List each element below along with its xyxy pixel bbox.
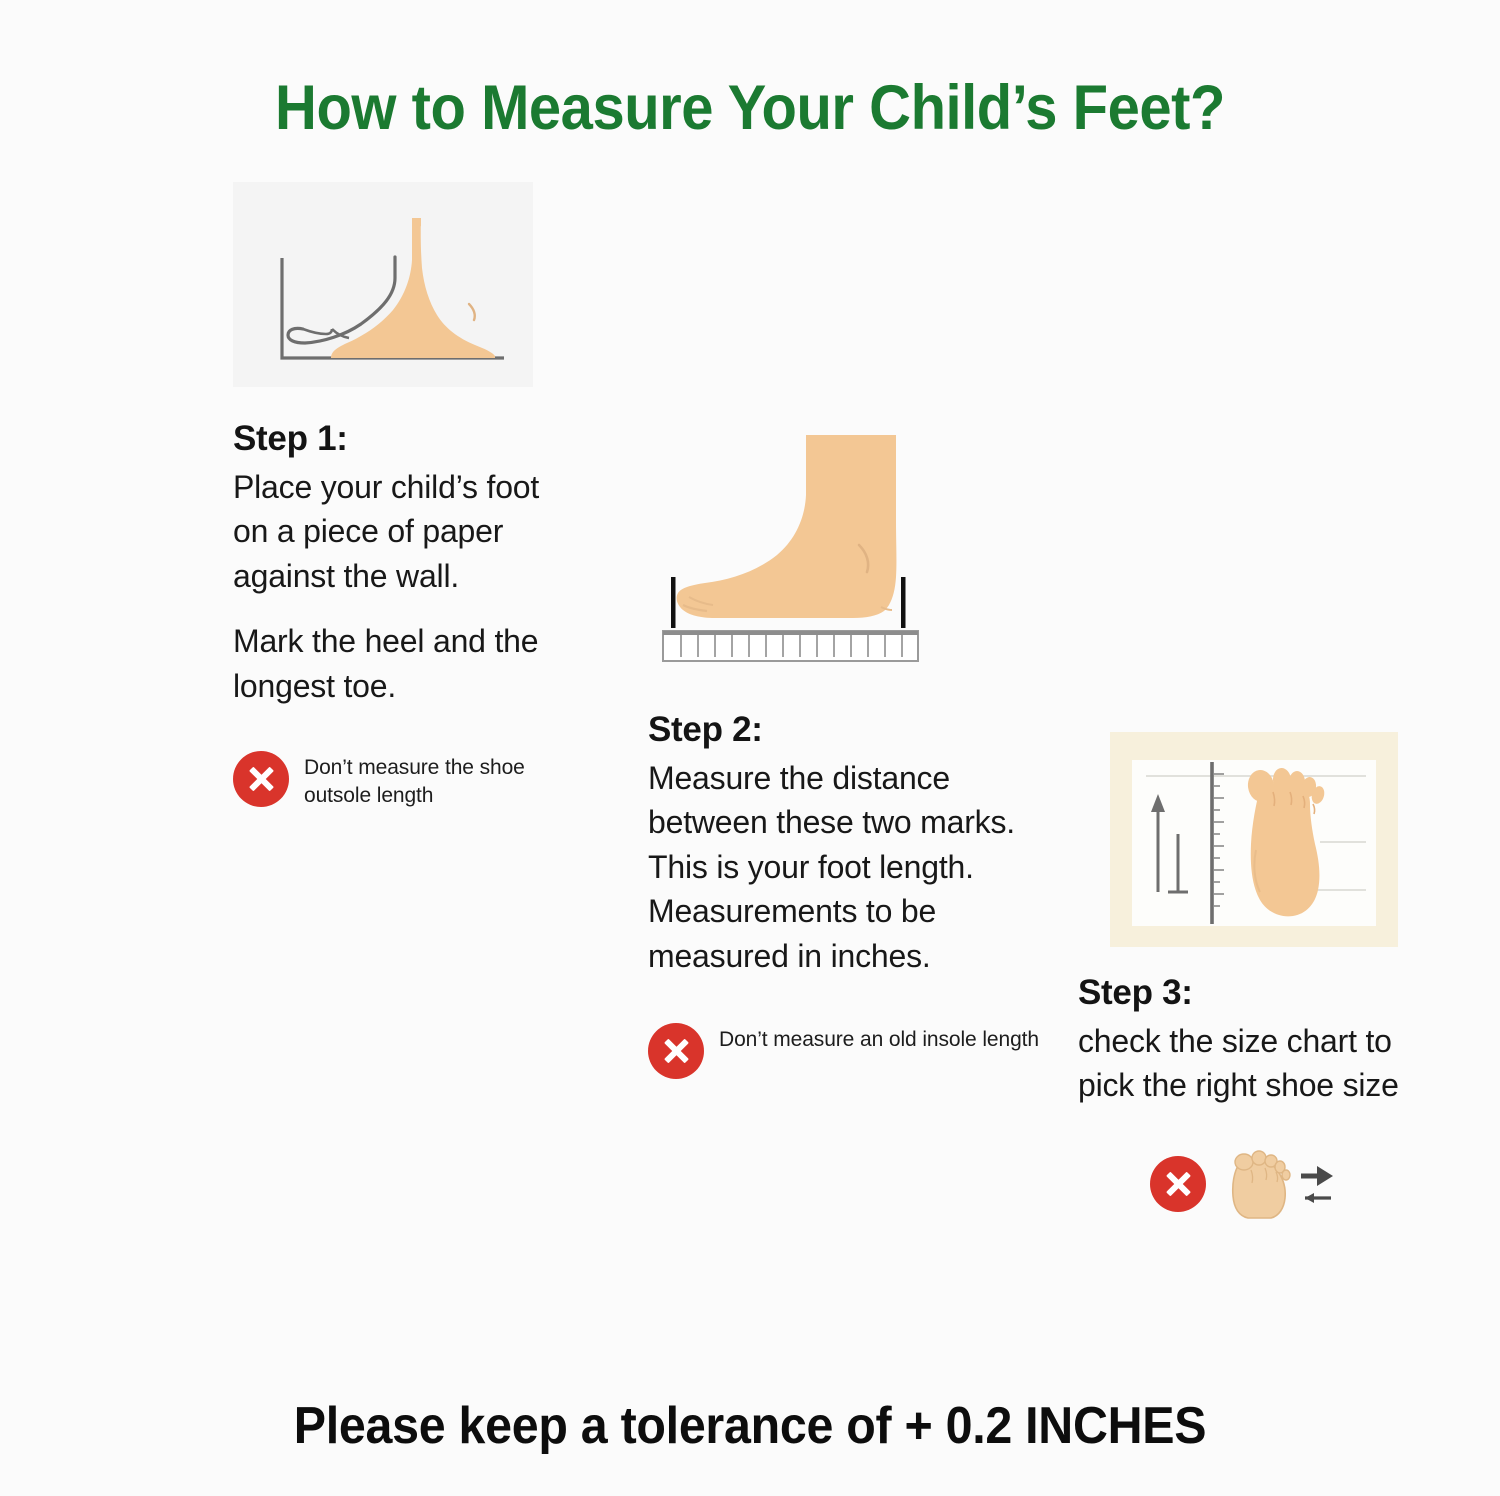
step-2-paragraph-1: Measure the distance between these two m… xyxy=(648,756,1078,978)
tolerance-note: Please keep a tolerance of + 0.2 INCHES xyxy=(53,1396,1448,1456)
red-x-circle-icon xyxy=(648,1023,704,1079)
step-3-heading: Step 3: xyxy=(1078,973,1418,1013)
foot-side-profile-against-wall-icon xyxy=(233,182,533,387)
step-1-paragraph-1: Place your child’s foot on a piece of pa… xyxy=(233,465,553,598)
step-3-paragraph-1: check the size chart to pick the right s… xyxy=(1078,1019,1418,1108)
step-1-warning-text: Don’t measure the shoe outsole length xyxy=(304,751,553,810)
arrow-left-icon xyxy=(1305,1193,1331,1203)
red-x-circle-icon xyxy=(1150,1156,1206,1212)
step-1-heading: Step 1: xyxy=(233,419,553,459)
step-2-block: Step 2: Measure the distance between the… xyxy=(648,425,1078,1079)
step-3-illustration xyxy=(1110,732,1398,947)
step-2-illustration xyxy=(653,425,953,670)
step-2-body: Measure the distance between these two m… xyxy=(648,756,1078,978)
foot-with-ruler-icon xyxy=(653,425,953,670)
step-2-text: Step 2: Measure the distance between the… xyxy=(648,710,1078,978)
red-x-circle-icon xyxy=(233,751,289,807)
step-3-block: Step 3: check the size chart to pick the… xyxy=(1078,732,1418,1220)
step-2-warning: Don’t measure an old insole length xyxy=(648,1023,1078,1079)
step-2-warning-text: Don’t measure an old insole length xyxy=(719,1023,1039,1054)
foot-sole-on-measuring-card-icon xyxy=(1110,732,1398,947)
page-title: How to Measure Your Child’s Feet? xyxy=(60,72,1440,144)
step-1-text: Step 1: Place your child’s foot on a pie… xyxy=(233,419,553,708)
step-3-body: check the size chart to pick the right s… xyxy=(1078,1019,1418,1108)
foot-sole-with-arrows-icon xyxy=(1221,1148,1336,1220)
arrow-right-icon xyxy=(1301,1166,1333,1186)
step-3-warning xyxy=(1150,1148,1418,1220)
step-1-warning: Don’t measure the shoe outsole length xyxy=(233,751,553,810)
toe-mark xyxy=(671,577,676,628)
heel-mark xyxy=(901,577,906,628)
step-3-text: Step 3: check the size chart to pick the… xyxy=(1078,973,1418,1108)
step-2-heading: Step 2: xyxy=(648,710,1078,750)
step-1-body: Place your child’s foot on a piece of pa… xyxy=(233,465,553,708)
infographic-page: How to Measure Your Child’s Feet? Step 1… xyxy=(0,0,1500,1496)
step-1-block: Step 1: Place your child’s foot on a pie… xyxy=(233,182,553,810)
step-1-illustration xyxy=(233,182,533,387)
step-1-paragraph-2: Mark the heel and the longest toe. xyxy=(233,619,553,708)
